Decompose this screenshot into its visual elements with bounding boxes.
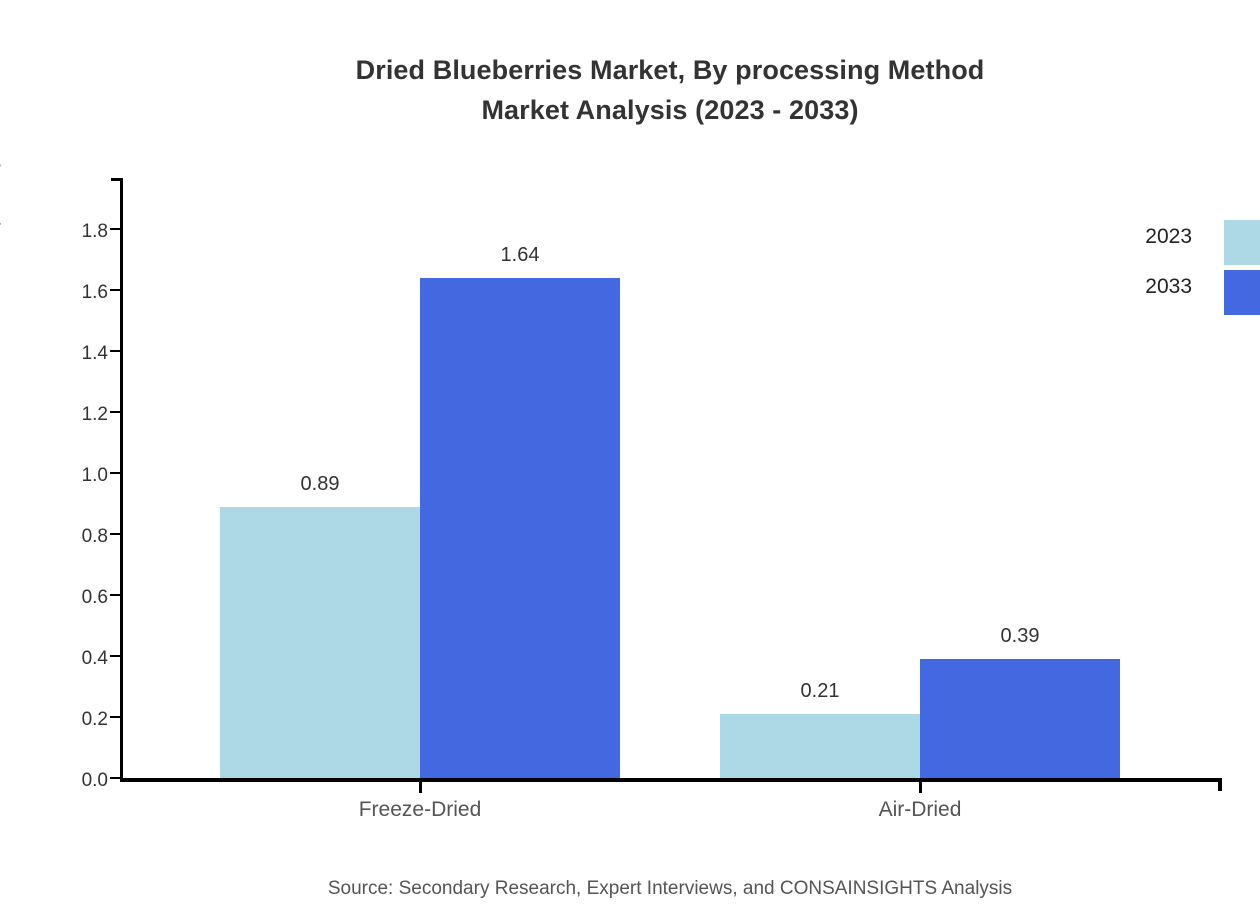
chart-title-line-2: Market Analysis (2023 - 2033) <box>0 90 1260 130</box>
y-tick-label-1.8: 1.8 <box>62 221 108 243</box>
y-tick-mark-1.2 <box>110 411 120 413</box>
chart-title-line-1: Dried Blueberries Market, By processing … <box>0 50 1260 90</box>
bar-2033-freeze-dried[interactable] <box>420 278 620 778</box>
chart-legend: 2023 2033 <box>1137 220 1260 320</box>
source-note: Source: Secondary Research, Expert Inter… <box>0 878 1260 900</box>
legend-label-2023: 2023 <box>1145 225 1192 249</box>
y-tick-label-0.0: 0.0 <box>62 770 108 792</box>
chart-title: Dried Blueberries Market, By processing … <box>0 50 1260 130</box>
legend-swatch-2033 <box>1224 270 1260 315</box>
y-tick-mark-0.2 <box>110 716 120 718</box>
bar-label-2033-air-dried: 0.39 <box>1001 625 1040 648</box>
bar-2023-freeze-dried[interactable] <box>220 507 420 778</box>
y-tick-label-1.0: 1.0 <box>62 465 108 487</box>
y-axis-title: Market Size (Billion) <box>0 3 2 503</box>
y-axis-top-cap <box>111 178 123 181</box>
bar-label-2023-air-dried: 0.21 <box>801 680 840 703</box>
y-tick-label-1.4: 1.4 <box>62 343 108 365</box>
bar-2033-air-dried[interactable] <box>920 659 1120 778</box>
x-axis-line <box>120 778 1222 782</box>
y-tick-label-0.8: 0.8 <box>62 526 108 548</box>
legend-label-2033: 2033 <box>1145 275 1192 299</box>
y-tick-label-0.2: 0.2 <box>62 709 108 731</box>
y-tick-mark-0.8 <box>110 533 120 535</box>
plot-area: Freeze-Dried Air-Dried 0.89 1.64 0.21 0.… <box>120 178 1222 781</box>
x-tick-mark-freeze-dried <box>419 781 422 793</box>
x-tick-label-air-dried: Air-Dried <box>879 798 962 822</box>
bar-label-2023-freeze-dried: 0.89 <box>301 473 340 496</box>
y-tick-mark-1.6 <box>110 289 120 291</box>
x-tick-label-freeze-dried: Freeze-Dried <box>359 798 482 822</box>
y-tick-mark-0.0 <box>110 777 120 779</box>
y-tick-mark-0.4 <box>110 655 120 657</box>
bar-label-2033-freeze-dried: 1.64 <box>501 244 540 267</box>
legend-swatch-2023 <box>1224 220 1260 265</box>
legend-item-2033[interactable]: 2033 <box>1137 270 1260 320</box>
y-tick-mark-0.6 <box>110 594 120 596</box>
y-tick-label-0.4: 0.4 <box>62 648 108 670</box>
y-tick-label-0.6: 0.6 <box>62 587 108 609</box>
chart-canvas: Dried Blueberries Market, By processing … <box>0 0 1260 920</box>
x-axis-end-cap <box>1218 778 1222 791</box>
y-tick-mark-1.0 <box>110 472 120 474</box>
y-axis-line <box>120 178 123 781</box>
legend-item-2023[interactable]: 2023 <box>1137 220 1260 270</box>
y-tick-label-1.6: 1.6 <box>62 282 108 304</box>
y-tick-mark-1.8 <box>110 228 120 230</box>
bar-2023-air-dried[interactable] <box>720 714 920 778</box>
y-tick-label-1.2: 1.2 <box>62 404 108 426</box>
x-tick-mark-air-dried <box>919 781 922 793</box>
y-tick-mark-1.4 <box>110 350 120 352</box>
